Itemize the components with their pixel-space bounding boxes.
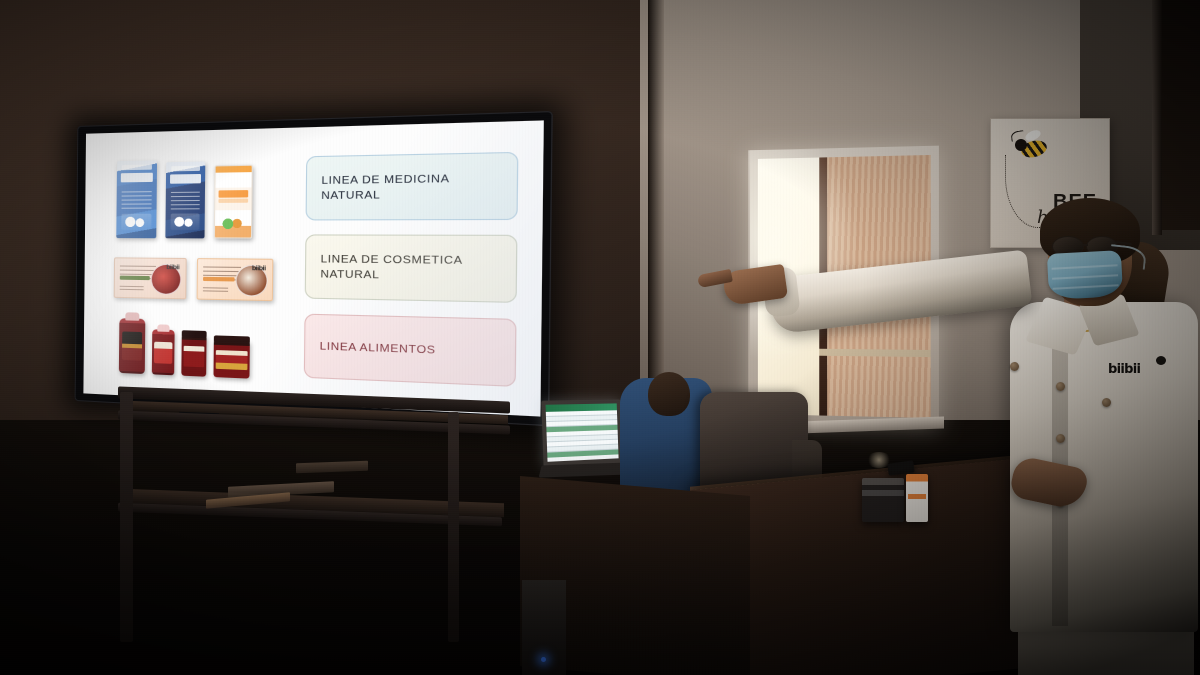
shelf-post-left [120,392,133,642]
box-accent-band [219,190,249,198]
laptop-screen[interactable] [546,403,619,461]
product-honey-bottle [119,318,145,374]
coat-brand-logo: biibii [1108,362,1140,377]
shelf-post-right [448,412,459,642]
metal-tin-container[interactable] [862,478,904,522]
window-rail [819,348,931,356]
box-accent-band-2 [218,199,248,203]
label-column: LINEA DE MEDICINA NATURAL LINEA DE COSME… [304,137,524,402]
box-accent-band [908,494,926,499]
laptop-lid [541,399,622,468]
bee-antenna-icon [1010,130,1024,142]
glasses-bridge [1082,244,1088,246]
soapbox-logo: biibii [166,264,179,271]
jar-lid [182,330,207,338]
soapbox-subtext [120,286,144,293]
product-binelax-dark [165,161,205,238]
product-row-alimentos [101,318,289,381]
shelf-box [296,461,368,474]
coat-button [1010,362,1019,371]
product-bifidin [214,165,253,239]
room-scene: BEE happy [0,0,1200,675]
shelving-unit [118,392,518,642]
coat-button [1102,398,1111,407]
product-soap-rose: biibii [114,258,187,300]
seated-person-head [648,372,690,416]
jar-lid [214,336,250,345]
product-binelax-light [116,160,157,238]
product-row-cosmetica: biibii biibii [102,258,290,302]
box-brand-band [121,173,153,183]
tin-band [862,490,904,496]
box-cap [171,165,200,171]
product-row-medicina [102,157,290,238]
label-linea-cosmetica-natural: LINEA DE COSMETICA NATURAL [305,235,518,304]
product-soap-peach: biibii [197,259,274,302]
mask-pleat [1053,284,1119,289]
mask-pleat [1052,264,1118,269]
soapbox-subtext [203,288,228,295]
label-linea-medicina-natural: LINEA DE MEDICINA NATURAL [306,152,519,221]
label-linea-alimentos: LINEA ALIMENTOS [304,314,517,387]
laptop[interactable] [542,399,627,480]
product-spread-jar [213,340,249,379]
presenter: biibii [960,176,1200,675]
product-sauce-bottle [152,329,175,375]
product-column: biibii biibii [101,143,291,391]
bottle-cap [157,324,169,332]
jar-label [216,350,248,371]
mask-pleat [1052,274,1118,279]
presentation-slide: biibii biibii [83,120,543,416]
box-product-image [121,213,151,230]
power-led-indicator [541,657,546,662]
box-brand-band [170,174,201,184]
box-textlines [122,191,152,208]
television[interactable]: biibii biibii [75,111,553,426]
box-product-image [171,214,200,231]
box-cap [122,164,152,170]
coat-button [1056,382,1065,391]
product-preserve-jar [181,334,206,376]
bottle-label [122,332,142,361]
jar-label [183,346,204,368]
bottle-cap [125,312,139,321]
soapbox-logo: biibii [252,265,266,273]
box-textlines [171,192,200,209]
coat-bee-icon [1156,356,1166,365]
box-product-image [220,214,246,230]
coat-button [1056,434,1065,443]
bottle-label [154,341,173,363]
tv-screen[interactable]: biibii biibii [83,120,543,416]
product-box-orange[interactable] [906,474,928,522]
